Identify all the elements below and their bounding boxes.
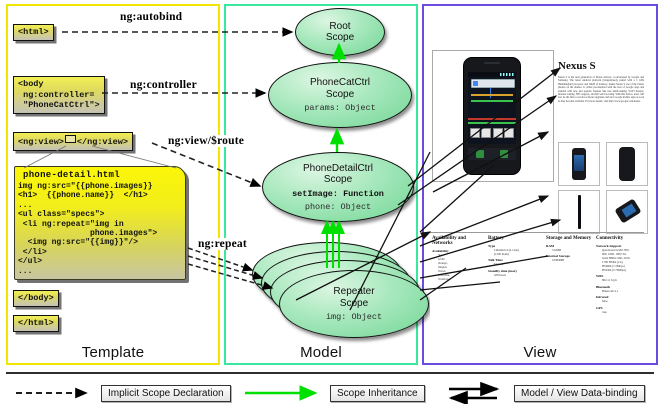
- scope-phonedetailctrl-prop-setimage: setImage: Function: [292, 189, 384, 199]
- scope-phonedetailctrl: PhoneDetailCtrlScope setImage: Function …: [262, 152, 414, 222]
- panel-view-label: View: [424, 344, 656, 361]
- legend-item-data-binding: Model / View Data-binding: [447, 382, 645, 404]
- spec-column-connectivity: Connectivity Network Support Quad-band G…: [596, 236, 644, 314]
- spec-table: Availability and Networks Availability 3…: [430, 236, 644, 332]
- scope-phonecatctrl-title: PhoneCatCtrlScope: [310, 77, 370, 100]
- phone-wallpaper-arrow: [490, 88, 491, 98]
- google-g-icon: [473, 81, 478, 86]
- panel-model-label: Model: [226, 344, 416, 361]
- spec-column-availability: Availability and Networks Availability 3…: [432, 236, 482, 281]
- phone-wallpaper-line-red: [468, 118, 516, 120]
- diagram-root: Template Model View <html> <body ng:cont…: [0, 0, 660, 420]
- thumb-screen-1: [574, 155, 584, 171]
- spec-value: HSUPA (5.76Mbps): [602, 268, 644, 272]
- spec-value: 512MB: [552, 248, 594, 252]
- label-ng-view-route: ng:view/$route: [166, 135, 246, 147]
- dock-icon-2: [500, 150, 508, 158]
- phone-screen: [468, 72, 516, 144]
- code-box-ng-view: <ng:view></ng:view>: [13, 132, 133, 151]
- thumbnail-2[interactable]: [606, 142, 648, 186]
- double-arrow-icon: [447, 382, 509, 404]
- app-icon-3: [493, 128, 503, 138]
- note-code: img ng:src="{{phone.images}} <h1> {{phon…: [15, 181, 185, 277]
- phone-dock: [468, 148, 516, 160]
- spec-value: Bluetooth 2.1: [602, 289, 644, 293]
- spec-header-battery: Battery: [488, 236, 542, 241]
- phone-wallpaper-line-green: [471, 100, 513, 102]
- scope-repeater: RepeaterScope img: Object: [279, 270, 429, 338]
- view-rendered-page: Nexus S Nexus S is the next generation o…: [430, 14, 644, 344]
- label-ng-repeat: ng:repeat: [196, 238, 249, 250]
- spec-column-battery: Battery Type Lithium Ion (Li-Ion) (1500 …: [488, 236, 542, 277]
- panel-template-label: Template: [8, 344, 218, 361]
- phone-wallpaper-line-orange: [471, 94, 513, 96]
- ng-view-close-tag: </ng:view>: [77, 137, 128, 147]
- code-box-body-open: <body ng:controller= "PhoneCatCtrl">: [13, 76, 105, 114]
- legend-label-data-binding: Model / View Data-binding: [514, 385, 645, 402]
- dock-icon-1: [476, 150, 484, 158]
- phone-statusbar: [468, 72, 516, 77]
- thumb-phone-back-icon: [619, 147, 635, 181]
- spec-header-availability: Availability and Networks: [432, 236, 482, 246]
- legend-label-implicit-scope: Implicit Scope Declaration: [101, 385, 231, 402]
- thumbnail-3[interactable]: [558, 190, 600, 234]
- phone-device-illustration: [463, 57, 521, 175]
- phone-earpiece-icon: [484, 62, 500, 64]
- scope-phonecatctrl-prop-params: params: Object: [304, 103, 375, 113]
- scope-phonecatctrl: PhoneCatCtrlScope params: Object: [268, 62, 412, 128]
- phone-app-icon-row: [470, 128, 514, 140]
- ng-view-placeholder-icon: [65, 135, 76, 143]
- scope-phonedetailctrl-prop-phone: phone: Object: [305, 202, 371, 212]
- spec-value: 428 hours: [494, 273, 542, 277]
- code-box-body-close: </body>: [13, 290, 59, 307]
- ng-view-open-tag: <ng:view>: [18, 137, 64, 147]
- app-icon-4: [504, 128, 514, 138]
- thumb-phone-side-icon: [578, 195, 581, 229]
- spec-column-storage: Storage and Memory RAM 512MB Internal St…: [546, 236, 594, 262]
- code-box-html-close: </html>: [13, 315, 59, 332]
- spec-value: (1500 mAh): [494, 252, 542, 256]
- phone-wallpaper-line-green2: [468, 122, 516, 124]
- green-arrow-icon: [243, 382, 325, 404]
- phone-status-icons: [500, 73, 514, 76]
- spec-header-storage: Storage and Memory: [546, 236, 594, 241]
- legend-item-scope-inheritance: Scope Inheritance: [243, 382, 425, 404]
- dashed-arrow-icon: [14, 382, 96, 404]
- scope-phonedetailctrl-title: PhoneDetailCtrlScope: [303, 163, 373, 186]
- spec-divider: [430, 232, 644, 233]
- spec-value: Vodafone: [438, 277, 482, 281]
- product-description: Nexus S is the next generation of Nexus …: [558, 76, 644, 132]
- spec-value: 16384MB: [552, 258, 594, 262]
- scope-repeater-prop-img: img: Object: [326, 312, 382, 322]
- scope-root: RootScope: [295, 8, 385, 56]
- phone-hero-image-frame: [432, 50, 554, 182]
- scope-repeater-title: RepeaterScope: [333, 286, 374, 309]
- app-icon-1: [470, 128, 480, 138]
- label-ng-controller: ng:controller: [128, 79, 199, 91]
- legend-item-implicit-scope: Implicit Scope Declaration: [14, 382, 231, 404]
- thumbnail-1[interactable]: [558, 142, 600, 186]
- spec-value: 802.11 b/g/n: [602, 278, 644, 282]
- label-ng-autobind: ng:autobind: [118, 11, 184, 23]
- spec-value: false: [602, 299, 644, 303]
- scope-repeater-stack: RepeaterScope img: Object: [252, 242, 427, 342]
- app-icon-2: [481, 128, 491, 138]
- spec-value: 6 hours: [494, 262, 542, 266]
- code-box-html-open: <html>: [13, 24, 54, 41]
- spec-header-connectivity: Connectivity: [596, 236, 644, 241]
- legend-label-scope-inheritance: Scope Inheritance: [330, 385, 425, 402]
- scope-root-title: RootScope: [326, 21, 354, 44]
- phone-search-widget: [471, 79, 515, 88]
- legend-divider: [6, 372, 654, 374]
- thumbnail-4[interactable]: [606, 190, 648, 234]
- spec-value: true: [602, 310, 644, 314]
- note-title: phone-detail.html: [15, 167, 185, 181]
- product-title: Nexus S: [558, 60, 596, 72]
- sticky-note-phone-detail: phone-detail.html img ng:src="{{phone.im…: [14, 166, 186, 280]
